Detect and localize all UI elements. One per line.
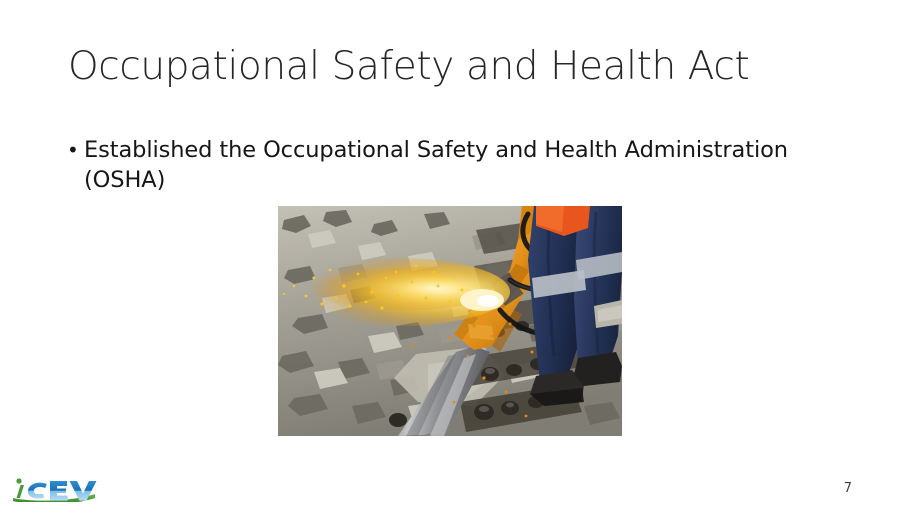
body-content: • Established the Occupational Safety an… xyxy=(66,135,796,195)
page-title: Occupational Safety and Health Act xyxy=(68,44,858,90)
icev-logo xyxy=(9,476,101,502)
page-number: 7 xyxy=(832,481,852,496)
list-item: • Established the Occupational Safety an… xyxy=(66,135,796,195)
slide-canvas: Occupational Safety and Health Act • Est… xyxy=(0,0,900,506)
bullet-icon: • xyxy=(67,135,79,165)
list-item-label: Established the Occupational Safety and … xyxy=(84,137,788,193)
slide-photo xyxy=(278,206,622,436)
rail-grinding-photo-illustration xyxy=(278,206,622,436)
icev-logo-mark xyxy=(9,476,101,502)
